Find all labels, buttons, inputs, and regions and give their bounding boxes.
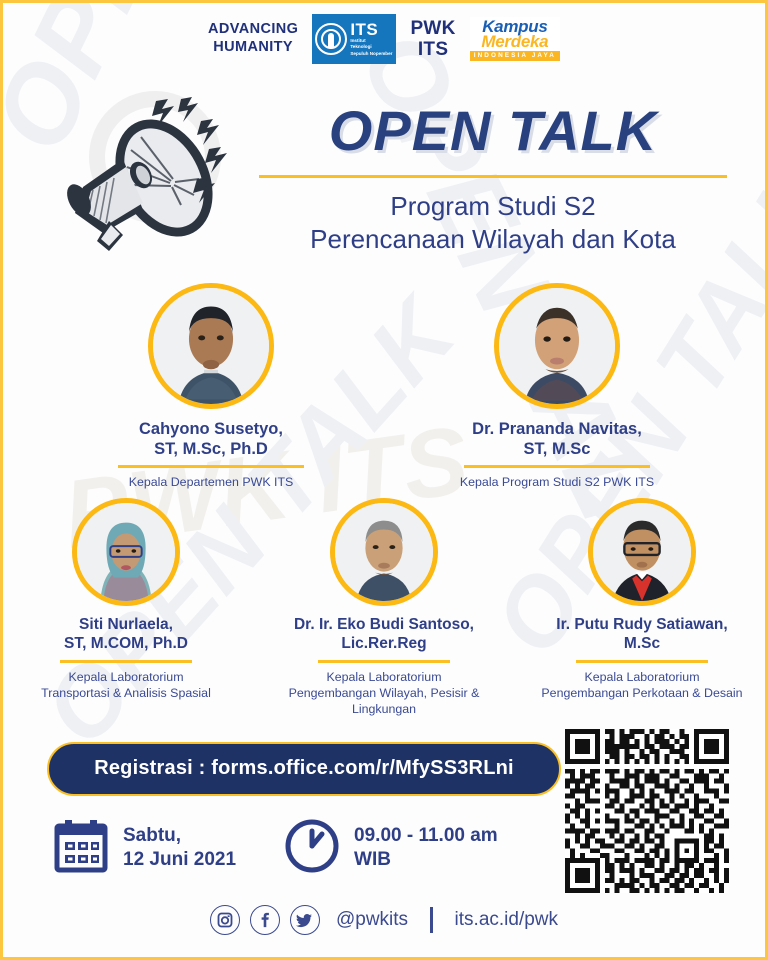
qr-code[interactable] bbox=[565, 729, 729, 893]
instagram-icon[interactable] bbox=[210, 905, 240, 935]
facebook-icon[interactable] bbox=[250, 905, 280, 935]
speaker-role: Kepala Program Studi S2 PWK ITS bbox=[432, 474, 682, 490]
calendar-icon bbox=[53, 818, 109, 879]
its-logo: ITS Institut Teknologi Sepuluh Nopember bbox=[312, 14, 396, 64]
header-logo-bar: ADVANCING HUMANITY ITS Institut Teknolog… bbox=[3, 3, 765, 61]
avatar bbox=[330, 498, 438, 606]
megaphone-icon bbox=[31, 75, 246, 260]
pwk-line-1: PWK bbox=[410, 18, 455, 39]
social-handle: @pwkits bbox=[336, 909, 408, 931]
avatar bbox=[148, 283, 274, 409]
pwk-line-2: ITS bbox=[410, 39, 455, 60]
speaker-divider bbox=[318, 660, 450, 663]
speaker-role-line-1: Kepala Program Studi S2 PWK ITS bbox=[432, 474, 682, 490]
registration-link-button[interactable]: Registrasi : forms.office.com/r/MfySS3RL… bbox=[47, 742, 561, 796]
speaker-name-line-1: Siti Nurlaela, bbox=[6, 616, 246, 635]
title-block: OPEN TALK Program Studi S2 Perencanaan W… bbox=[251, 61, 735, 255]
footer: @pwkits its.ac.id/pwk bbox=[3, 905, 765, 935]
twitter-icon[interactable] bbox=[290, 905, 320, 935]
speaker-role-line-1: Kepala Laboratorium bbox=[6, 669, 246, 685]
its-name-line-3: Sepuluh Nopember bbox=[350, 51, 392, 57]
speaker-name-line-2: ST, M.COM, Ph.D bbox=[6, 635, 246, 654]
clock-icon bbox=[284, 818, 340, 879]
speaker-divider bbox=[464, 465, 650, 468]
speaker-name: Dr. Ir. Eko Budi Santoso, Lic.Rer.Reg bbox=[264, 616, 504, 654]
avatar bbox=[72, 498, 180, 606]
avatar bbox=[588, 498, 696, 606]
speaker-role: Kepala Departemen PWK ITS bbox=[86, 474, 336, 490]
advancing-line-2: HUMANITY bbox=[208, 39, 298, 57]
subtitle-line-2: Perencanaan Wilayah dan Kota bbox=[251, 223, 735, 256]
event-time-line-2: WIB bbox=[354, 848, 498, 872]
speaker-name-line-2: ST, M.Sc bbox=[432, 439, 682, 459]
speaker-name-line-1: Ir. Putu Rudy Satiawan, bbox=[522, 616, 762, 635]
speaker-name-line-2: Lic.Rer.Reg bbox=[264, 635, 504, 654]
speaker-name-line-1: Dr. Prananda Navitas, bbox=[432, 419, 682, 439]
speaker-name-line-1: Cahyono Susetyo, bbox=[86, 419, 336, 439]
speaker-card: Dr. Prananda Navitas, ST, M.Sc Kepala Pr… bbox=[432, 283, 682, 490]
kampus-merdeka-line-2: Merdeka bbox=[470, 33, 560, 50]
event-date-block: Sabtu, 12 Juni 2021 bbox=[53, 818, 236, 879]
speaker-card: Ir. Putu Rudy Satiawan, M.Sc Kepala Labo… bbox=[522, 498, 762, 717]
kampus-merdeka-tagline: INDONESIA JAYA bbox=[470, 51, 560, 60]
event-time-line-1: 09.00 - 11.00 am bbox=[354, 824, 498, 848]
speakers-section: Cahyono Susetyo, ST, M.Sc, Ph.D Kepala D… bbox=[3, 283, 765, 718]
its-acronym: ITS bbox=[350, 21, 392, 38]
speaker-name: Siti Nurlaela, ST, M.COM, Ph.D bbox=[6, 616, 246, 654]
title-divider bbox=[259, 175, 727, 178]
event-date-text: Sabtu, 12 Juni 2021 bbox=[123, 824, 236, 873]
speaker-role: Kepala Laboratorium Pengembangan Perkota… bbox=[522, 669, 762, 701]
speakers-row-2: Siti Nurlaela, ST, M.COM, Ph.D Kepala La… bbox=[3, 498, 765, 717]
speaker-card: Siti Nurlaela, ST, M.COM, Ph.D Kepala La… bbox=[6, 498, 246, 717]
its-seal-icon bbox=[315, 23, 347, 55]
speaker-role-line-1: Kepala Departemen PWK ITS bbox=[86, 474, 336, 490]
speaker-name-line-1: Dr. Ir. Eko Budi Santoso, bbox=[264, 616, 504, 635]
event-time-block: 09.00 - 11.00 am WIB bbox=[284, 818, 498, 879]
speaker-role-line-1: Kepala Laboratorium bbox=[522, 669, 762, 685]
speaker-role: Kepala Laboratorium Pengembangan Wilayah… bbox=[264, 669, 504, 717]
footer-divider bbox=[430, 907, 433, 933]
event-date-line-1: Sabtu, bbox=[123, 824, 236, 848]
speaker-role-line-1: Kepala Laboratorium bbox=[264, 669, 504, 685]
speaker-name: Cahyono Susetyo, ST, M.Sc, Ph.D bbox=[86, 419, 336, 459]
subtitle: Program Studi S2 Perencanaan Wilayah dan… bbox=[251, 190, 735, 255]
speakers-row-1: Cahyono Susetyo, ST, M.Sc, Ph.D Kepala D… bbox=[3, 283, 765, 490]
speaker-divider bbox=[118, 465, 304, 468]
poster: OPEN TALK OPEN TALK PWK ITS OPEN TALK OP… bbox=[0, 0, 768, 960]
event-date-line-2: 12 Juni 2021 bbox=[123, 848, 236, 872]
speaker-name: Dr. Prananda Navitas, ST, M.Sc bbox=[432, 419, 682, 459]
page-title: OPEN TALK bbox=[251, 103, 735, 159]
speaker-card: Cahyono Susetyo, ST, M.Sc, Ph.D Kepala D… bbox=[86, 283, 336, 490]
website-url: its.ac.id/pwk bbox=[455, 909, 558, 931]
advancing-humanity-tagline: ADVANCING HUMANITY bbox=[208, 21, 298, 56]
speaker-name-line-2: ST, M.Sc, Ph.D bbox=[86, 439, 336, 459]
speaker-name: Ir. Putu Rudy Satiawan, M.Sc bbox=[522, 616, 762, 654]
subtitle-line-1: Program Studi S2 bbox=[251, 190, 735, 223]
speaker-role-line-2: Pengembangan Wilayah, Pesisir & Lingkung… bbox=[264, 685, 504, 717]
pwk-its-logo: PWK ITS bbox=[410, 18, 455, 61]
avatar bbox=[494, 283, 620, 409]
speaker-name-line-2: M.Sc bbox=[522, 635, 762, 654]
speaker-role-line-2: Pengembangan Perkotaan & Desain bbox=[522, 685, 762, 701]
speaker-divider bbox=[576, 660, 708, 663]
speaker-role: Kepala Laboratorium Transportasi & Anali… bbox=[6, 669, 246, 701]
speaker-role-line-2: Transportasi & Analisis Spasial bbox=[6, 685, 246, 701]
event-time-text: 09.00 - 11.00 am WIB bbox=[354, 824, 498, 873]
speaker-card: Dr. Ir. Eko Budi Santoso, Lic.Rer.Reg Ke… bbox=[264, 498, 504, 717]
kampus-merdeka-logo: Kampus Merdeka INDONESIA JAYA bbox=[470, 17, 560, 60]
advancing-line-1: ADVANCING bbox=[208, 21, 298, 39]
speaker-divider bbox=[60, 660, 192, 663]
